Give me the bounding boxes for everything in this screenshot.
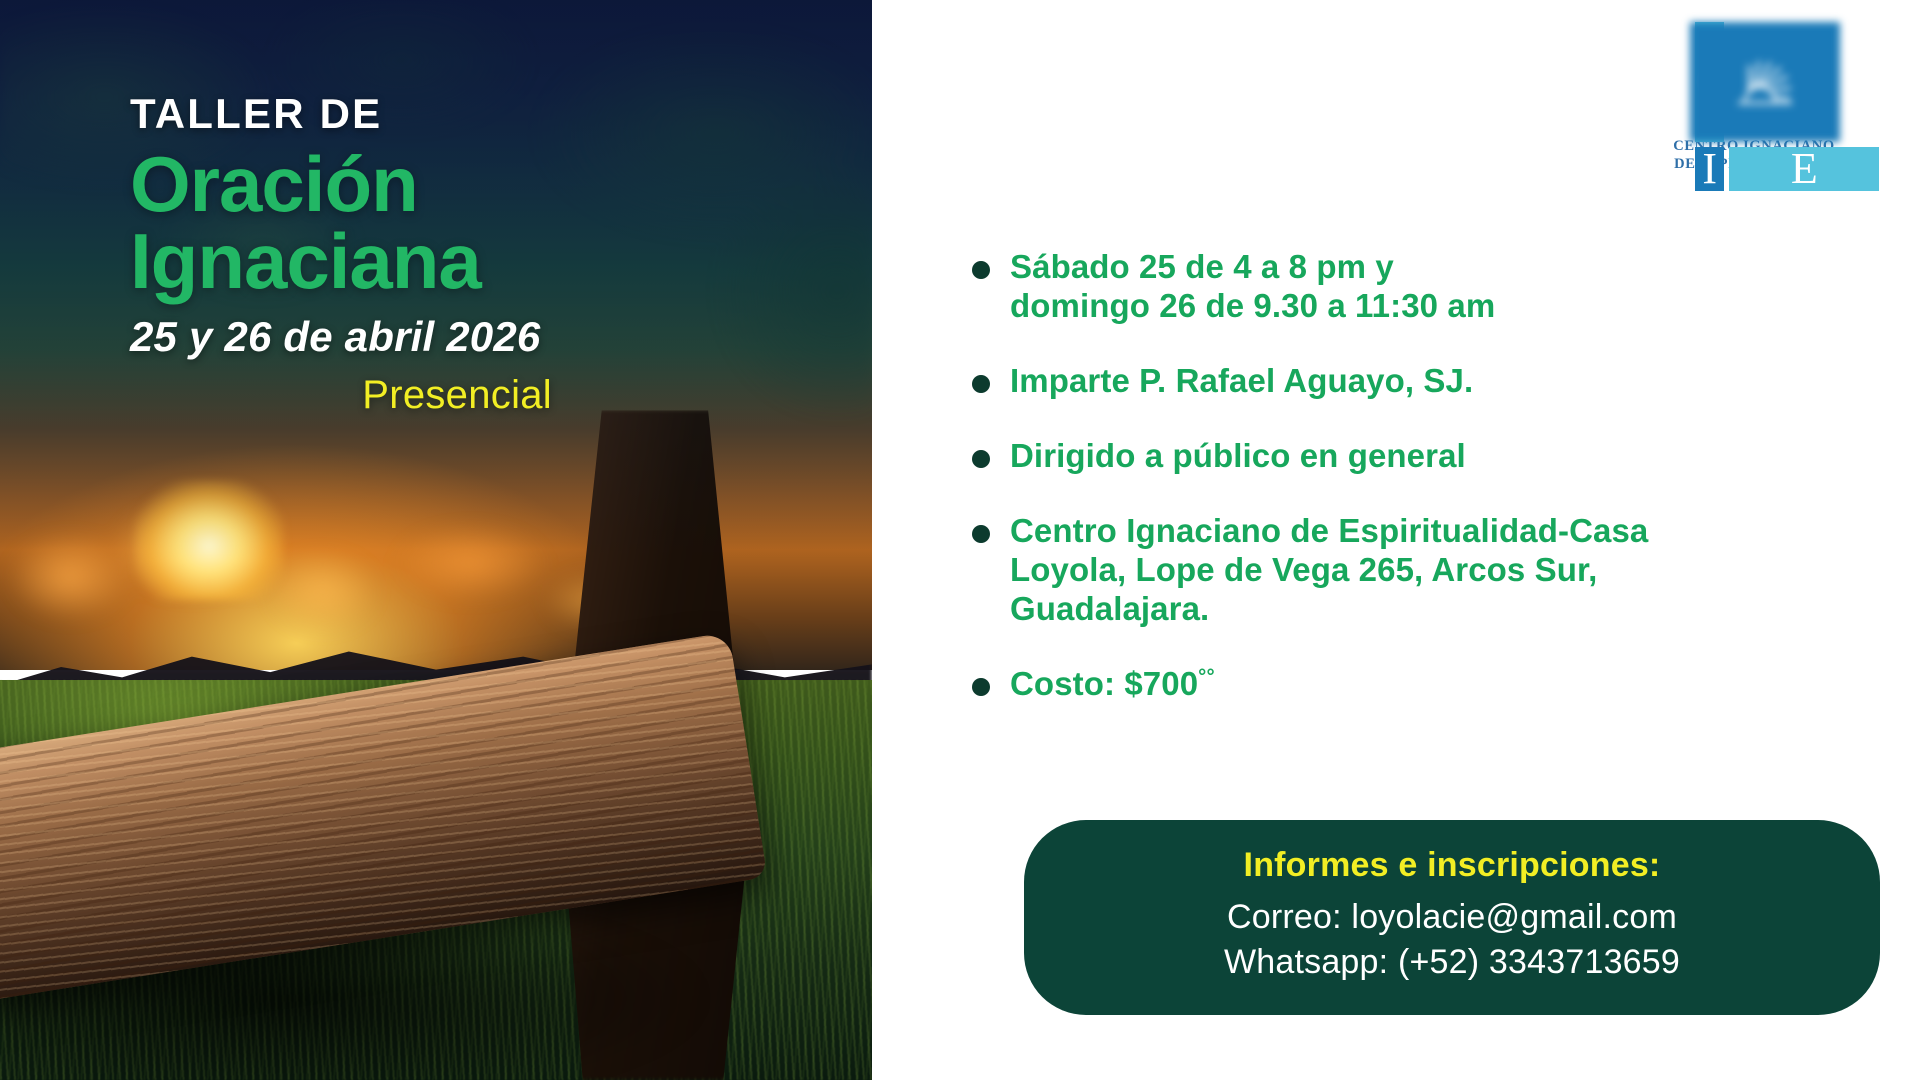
logo-letter-i: I <box>1702 147 1717 191</box>
bullet-dot-icon <box>972 261 990 279</box>
cie-logo: C <box>1666 22 1842 173</box>
venue-text: Centro Ignaciano de Espiritualidad-Casa … <box>1010 512 1648 629</box>
schedule-text: Sábado 25 de 4 a 8 pm y domingo 26 de 9.… <box>1010 248 1495 326</box>
sunburst-icon <box>1737 56 1793 108</box>
logo-tile-i: I <box>1695 147 1724 191</box>
list-item: Dirigido a público en general <box>972 437 1852 476</box>
price-text: Costo: $700°° <box>1010 665 1215 704</box>
flyer-poster: TALLER DE Oración Ignaciana 25 y 26 de a… <box>0 0 1920 1080</box>
headline-line-2: Ignaciana <box>130 223 770 299</box>
info-panel: C <box>872 0 1920 1080</box>
details-list: Sábado 25 de 4 a 8 pm y domingo 26 de 9.… <box>972 248 1852 740</box>
bullet-dot-icon <box>972 375 990 393</box>
page-title: Oración Ignaciana <box>130 146 770 299</box>
event-dates: 25 y 26 de abril 2026 <box>130 313 770 361</box>
audience-text: Dirigido a público en general <box>1010 437 1466 476</box>
list-item: Imparte P. Rafael Aguayo, SJ. <box>972 362 1852 401</box>
presenter-text: Imparte P. Rafael Aguayo, SJ. <box>1010 362 1473 401</box>
contact-whatsapp[interactable]: Whatsapp: (+52) 3343713659 <box>1054 940 1850 985</box>
list-item: Sábado 25 de 4 a 8 pm y domingo 26 de 9.… <box>972 248 1852 326</box>
event-modality: Presencial <box>130 373 770 418</box>
title-block: TALLER DE Oración Ignaciana 25 y 26 de a… <box>130 92 770 418</box>
bullet-dot-icon <box>972 450 990 468</box>
hero-image-panel: TALLER DE Oración Ignaciana 25 y 26 de a… <box>0 0 872 1080</box>
contact-box: Informes e inscripciones: Correo: loyola… <box>1024 820 1880 1015</box>
contact-email[interactable]: Correo: loyolacie@gmail.com <box>1054 895 1850 940</box>
bullet-dot-icon <box>972 525 990 543</box>
headline-line-1: Oración <box>130 140 418 228</box>
contact-heading: Informes e inscripciones: <box>1054 846 1850 885</box>
kicker-text: TALLER DE <box>130 92 770 136</box>
list-item: Centro Ignaciano de Espiritualidad-Casa … <box>972 512 1852 629</box>
logo-mark: C <box>1695 22 1813 130</box>
price-superscript: °° <box>1198 665 1215 688</box>
bullet-dot-icon <box>972 678 990 696</box>
logo-tile-sunburst <box>1690 22 1840 142</box>
logo-tile-e: E <box>1729 147 1879 191</box>
price-amount: Costo: $700 <box>1010 665 1198 702</box>
list-item: Costo: $700°° <box>972 665 1852 704</box>
logo-letter-e: E <box>1791 147 1818 191</box>
